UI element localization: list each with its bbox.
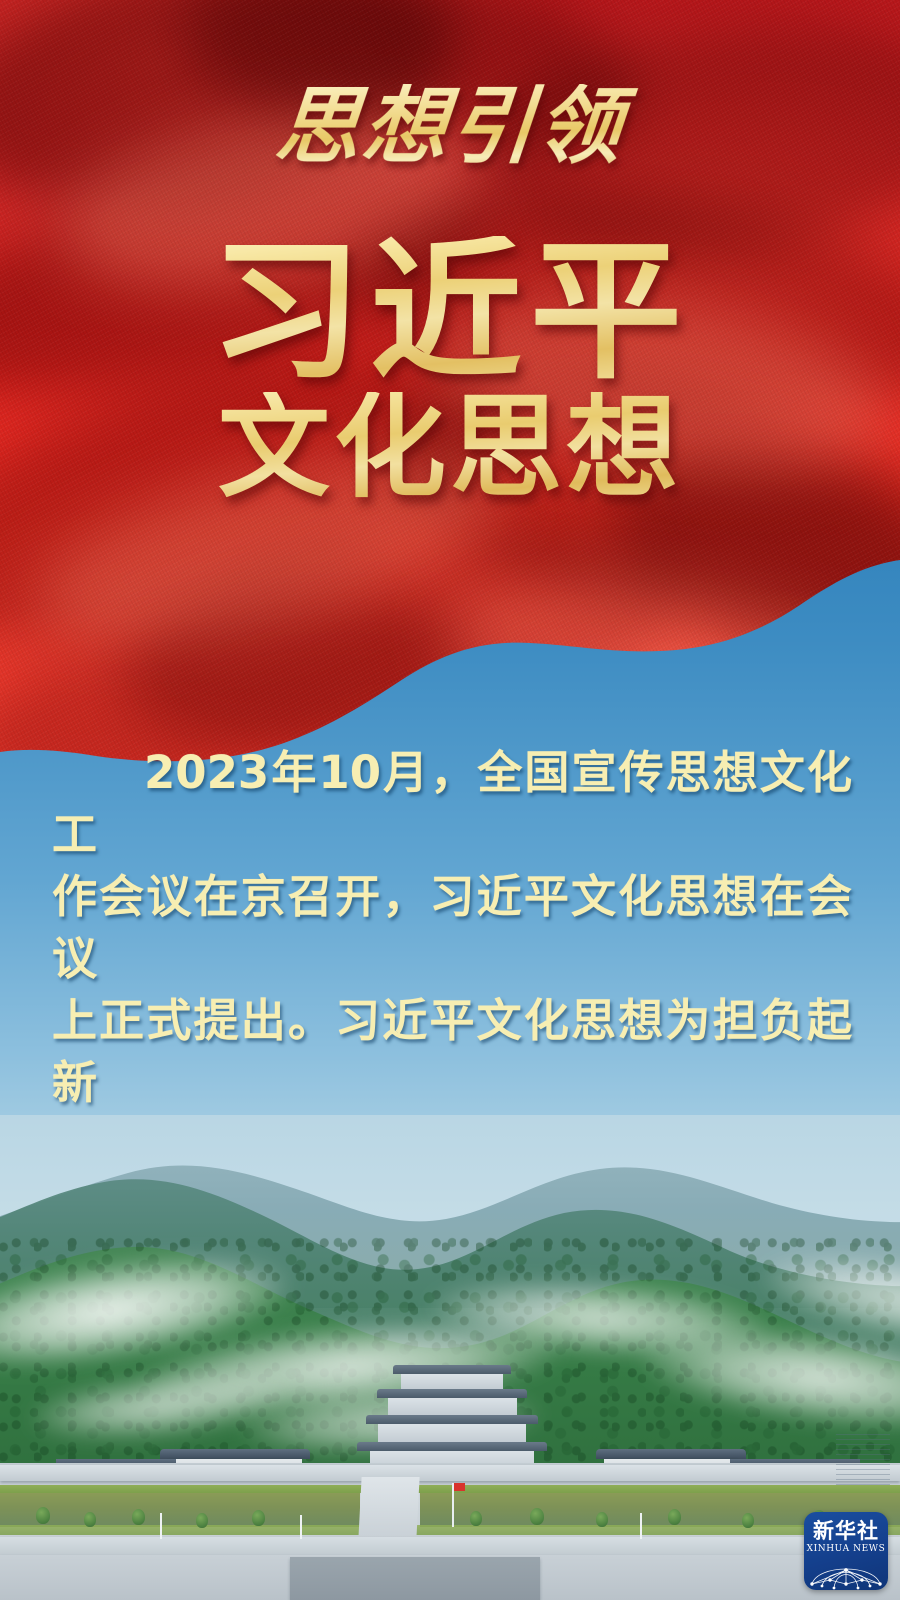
tower-roof bbox=[377, 1389, 527, 1398]
street-lamp bbox=[640, 1513, 642, 1539]
esplanade-wall bbox=[0, 1537, 900, 1555]
tree bbox=[470, 1511, 482, 1526]
body-line: 2023年10月，全国宣传思想文化工 bbox=[52, 742, 852, 866]
kicker-heading: 思想引领 bbox=[0, 84, 900, 168]
tower-roof bbox=[393, 1365, 511, 1374]
canal-water-left bbox=[0, 1491, 360, 1527]
terrace-wall bbox=[0, 1465, 900, 1481]
wing-roof-left bbox=[160, 1449, 310, 1459]
tower-body bbox=[401, 1374, 502, 1389]
page-title: 习近平 bbox=[0, 236, 900, 388]
landscape-photograph: 新华社 XINHUA NEWS bbox=[0, 1115, 900, 1600]
body-line: 上正式提出。习近平文化思想为担负起新 bbox=[52, 990, 852, 1114]
architecture-complex bbox=[0, 1365, 900, 1600]
canal-bank-right bbox=[415, 1485, 900, 1493]
central-walkway bbox=[290, 1557, 540, 1600]
tree bbox=[530, 1508, 544, 1525]
tower-roof bbox=[366, 1415, 538, 1424]
flag-pole bbox=[452, 1483, 454, 1527]
tower-body bbox=[388, 1398, 517, 1415]
tree bbox=[132, 1509, 145, 1525]
tree bbox=[668, 1509, 681, 1525]
tower-tier bbox=[393, 1365, 511, 1389]
body-line: 作会议在京召开，习近平文化思想在会议 bbox=[52, 866, 852, 990]
street-lamp bbox=[300, 1515, 302, 1539]
canal-bank-south bbox=[0, 1525, 900, 1535]
xinhua-news-logo[interactable]: 新华社 XINHUA NEWS bbox=[804, 1512, 888, 1590]
canal-bank-left bbox=[0, 1485, 370, 1493]
tree bbox=[36, 1507, 50, 1524]
street-lamp bbox=[160, 1513, 162, 1539]
tower-tier bbox=[377, 1389, 527, 1415]
page-subtitle: 文化思想 bbox=[0, 392, 900, 504]
globe-network-icon bbox=[804, 1550, 888, 1590]
tree bbox=[596, 1512, 608, 1527]
logo-name-cn: 新华社 bbox=[804, 1521, 888, 1542]
tree bbox=[196, 1513, 208, 1528]
tree bbox=[742, 1513, 754, 1528]
tree bbox=[84, 1512, 96, 1527]
wing-roof-right bbox=[596, 1449, 746, 1459]
tree bbox=[252, 1510, 265, 1526]
background-highrise bbox=[836, 1431, 890, 1485]
tower-body bbox=[378, 1424, 526, 1442]
tower-roof bbox=[357, 1442, 547, 1451]
stone-bridge bbox=[358, 1477, 419, 1539]
tower-tier bbox=[366, 1415, 538, 1442]
poster-canvas: 思想引领 习近平 文化思想 2023年10月，全国宣传思想文化工 作会议在京召开… bbox=[0, 0, 900, 1600]
